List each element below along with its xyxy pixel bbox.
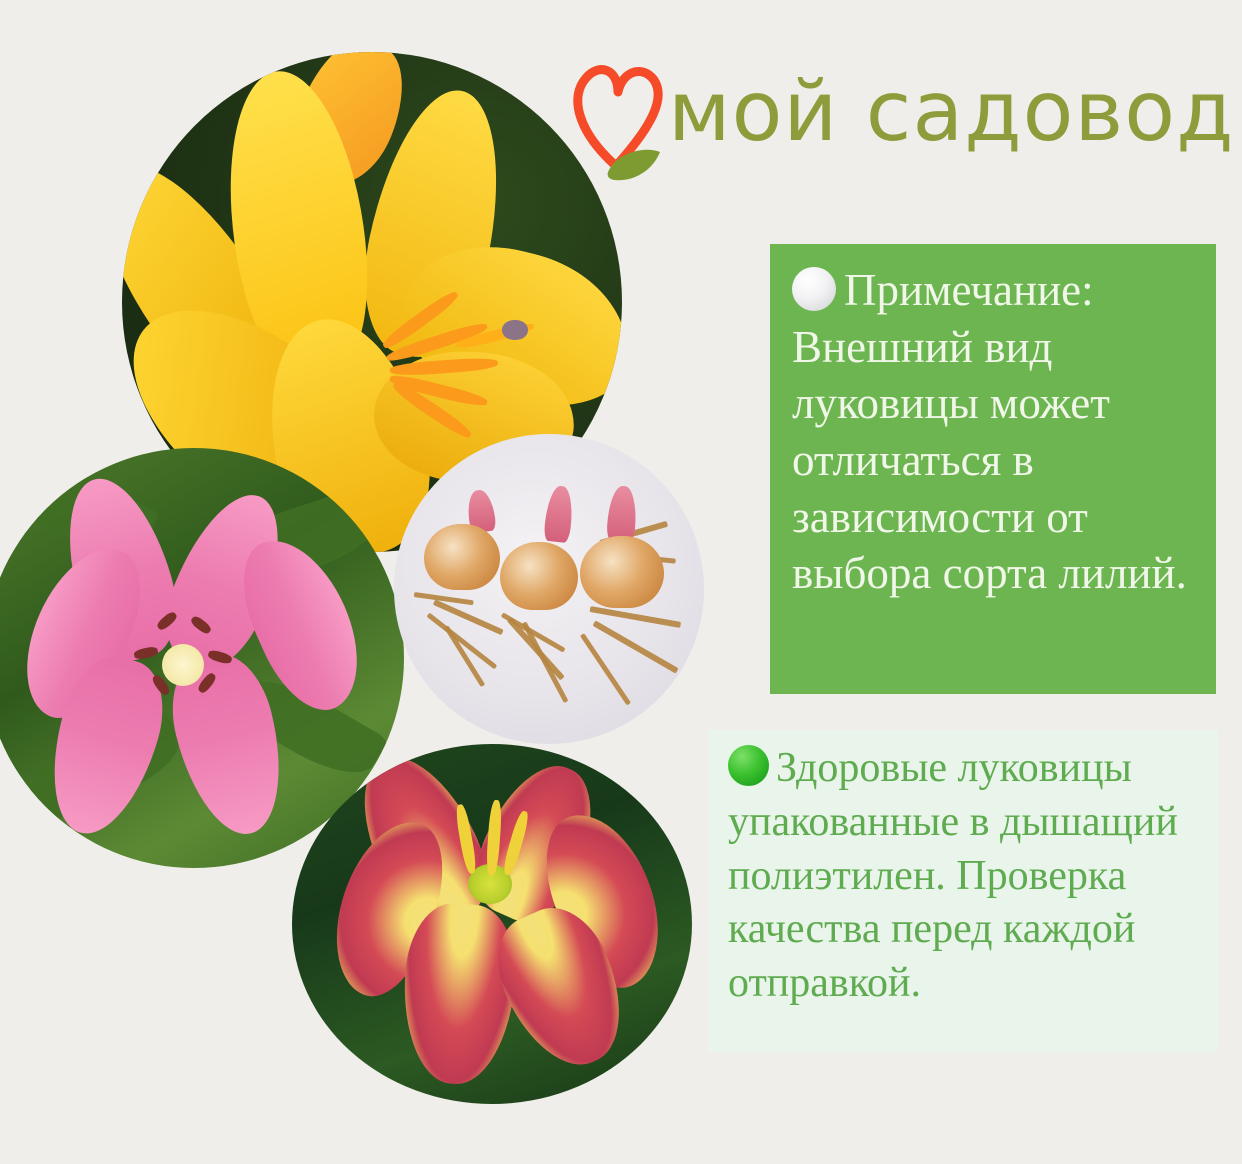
stigma (502, 320, 528, 340)
lily-bulb (424, 524, 500, 590)
quality-body: Здоровые луковицы упакованные в дышащий … (728, 745, 1178, 1006)
lily-bulbs-photo (394, 434, 704, 744)
leaf-icon (608, 150, 660, 181)
lily-bulb (500, 542, 578, 610)
lily-bulb (580, 536, 664, 608)
quality-text-block: Здоровые луковицы упакованные в дышащий … (728, 742, 1202, 1011)
promo-banner: мой садовод Примечание: Внешний вид луко… (0, 0, 1242, 1164)
quality-callout-box: Здоровые луковицы упакованные в дышащий … (708, 730, 1218, 1052)
white-circle-bullet-icon (792, 267, 836, 311)
flower-center (162, 644, 204, 686)
brand-name: мой садовод (668, 70, 1234, 153)
green-circle-bullet-icon (728, 745, 769, 786)
brand-logo[interactable]: мой садовод (566, 52, 1226, 202)
note-text-block: Примечание: Внешний вид луковицы может о… (792, 262, 1196, 602)
bicolor-lily-photo (292, 744, 692, 1104)
note-body: Примечание: Внешний вид луковицы может о… (792, 265, 1187, 598)
logo-mark (566, 52, 676, 182)
note-callout-box: Примечание: Внешний вид луковицы может о… (770, 244, 1216, 694)
